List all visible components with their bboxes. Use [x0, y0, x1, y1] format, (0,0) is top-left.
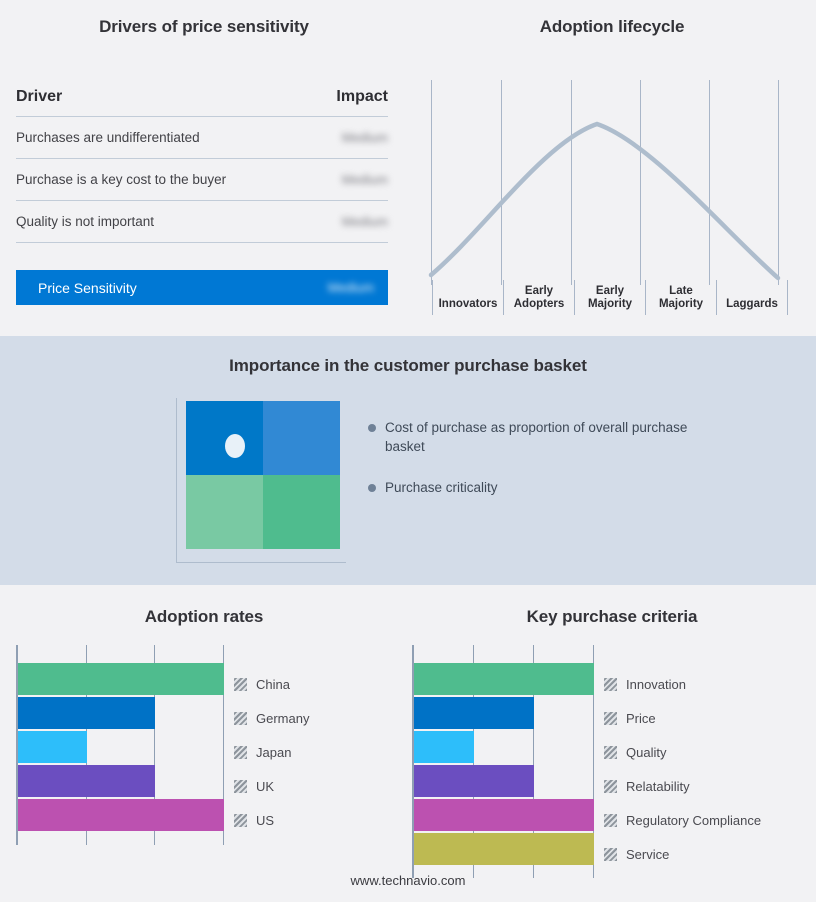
legend-item-china: China [234, 667, 309, 701]
adoption-lifecycle-panel: Adoption lifecycle Innovators [408, 0, 816, 336]
bar-germany [18, 697, 155, 729]
column-header-impact: Impact [336, 88, 388, 106]
impact-value: Medium [342, 214, 388, 229]
legend-swatch-icon [604, 746, 617, 759]
legend-swatch-icon [234, 746, 247, 759]
legend-item-relatability: Relatability [604, 769, 761, 803]
stage-line-2: Majority [588, 298, 632, 311]
legend-label: Innovation [626, 677, 686, 692]
key-purchase-criteria-bars [414, 645, 594, 865]
legend-label: Quality [626, 745, 666, 760]
stage-line-2: Majority [659, 298, 703, 311]
bar-row [18, 765, 224, 797]
legend-swatch-icon [604, 814, 617, 827]
stage-line-2: Innovators [439, 298, 498, 311]
bar-row [18, 731, 224, 763]
quadrant-chart [176, 398, 346, 563]
legend-swatch-icon [604, 780, 617, 793]
legend-item-regulatory-compliance: Regulatory Compliance [604, 803, 761, 837]
basket-legend-label: Cost of purchase as proportion of overal… [385, 418, 698, 456]
list-item: Cost of purchase as proportion of overal… [368, 418, 698, 456]
list-item: Purchase criticality [368, 478, 698, 497]
table-row: Purchases are undifferentiated Medium [16, 117, 388, 159]
legend-item-quality: Quality [604, 735, 761, 769]
price-sensitivity-impact-value: Medium [328, 280, 374, 295]
legend-item-price: Price [604, 701, 761, 735]
table-row: Quality is not important Medium [16, 201, 388, 243]
legend-swatch-icon [604, 678, 617, 691]
basket-panel-title: Importance in the customer purchase bask… [0, 356, 816, 376]
impact-value: Medium [342, 172, 388, 187]
driver-label: Purchase is a key cost to the buyer [16, 172, 226, 187]
legend-swatch-icon [234, 678, 247, 691]
impact-value: Medium [342, 130, 388, 145]
column-header-driver: Driver [16, 88, 62, 106]
bar-japan [18, 731, 87, 763]
bar-service [414, 833, 594, 865]
legend-swatch-icon [604, 848, 617, 861]
lifecycle-stage-innovators: Innovators [432, 280, 504, 315]
legend-item-japan: Japan [234, 735, 309, 769]
table-row: Purchase is a key cost to the buyer Medi… [16, 159, 388, 201]
lifecycle-curve-svg [424, 80, 800, 285]
lifecycle-stage-early-majority: Early Majority [575, 280, 646, 315]
price-sensitivity-label: Price Sensitivity [38, 280, 137, 296]
bar-relatability [414, 765, 534, 797]
lifecycle-stage-labels: Innovators Early Adopters Early Majority… [432, 280, 788, 315]
key-purchase-criteria-title: Key purchase criteria [408, 607, 816, 627]
legend-item-germany: Germany [234, 701, 309, 735]
legend-item-innovation: Innovation [604, 667, 761, 701]
legend-label: UK [256, 779, 274, 794]
adoption-rates-title: Adoption rates [0, 607, 408, 627]
stage-line-1: Early [525, 285, 553, 298]
quadrant-top-right [263, 401, 340, 475]
lifecycle-gridlines [432, 80, 779, 285]
bar-uk [18, 765, 155, 797]
bar-row [18, 697, 224, 729]
bar-price [414, 697, 534, 729]
legend-swatch-icon [234, 780, 247, 793]
drivers-table: Driver Impact Purchases are undifferenti… [16, 88, 388, 243]
lifecycle-panel-title: Adoption lifecycle [408, 17, 816, 37]
legend-label: Germany [256, 711, 309, 726]
adoption-rates-chart: China Germany Japan UK US [16, 645, 309, 845]
bar-row [414, 799, 594, 831]
drivers-table-header: Driver Impact [16, 88, 388, 117]
bar-row [414, 765, 594, 797]
adoption-rates-legend: China Germany Japan UK US [234, 645, 309, 845]
bar-row [18, 663, 224, 695]
adoption-rates-bars [18, 645, 224, 831]
drivers-panel-title: Drivers of price sensitivity [0, 17, 408, 37]
legend-item-uk: UK [234, 769, 309, 803]
bar-regulatory-compliance [414, 799, 594, 831]
bullet-icon [368, 424, 376, 432]
footer-watermark: www.technavio.com [0, 873, 816, 888]
legend-label: Japan [256, 745, 291, 760]
key-purchase-criteria-legend: Innovation Price Quality Relatability Re… [604, 645, 761, 878]
bar-row [414, 833, 594, 865]
lifecycle-stage-early-adopters: Early Adopters [504, 280, 575, 315]
stage-line-1: Late [669, 285, 693, 298]
bar-row [414, 663, 594, 695]
legend-swatch-icon [234, 814, 247, 827]
lifecycle-bell-curve [431, 124, 778, 278]
key-purchase-criteria-chart: Innovation Price Quality Relatability Re… [412, 645, 761, 878]
bar-quality [414, 731, 474, 763]
lifecycle-curve-plot [424, 80, 800, 285]
infographic-page: Drivers of price sensitivity Driver Impa… [0, 0, 816, 902]
bar-row [414, 697, 594, 729]
adoption-rates-panel: Adoption rates [0, 585, 408, 902]
quadrant-bottom-left [186, 475, 263, 549]
driver-label: Quality is not important [16, 214, 154, 229]
legend-item-us: US [234, 803, 309, 837]
bar-row [18, 799, 224, 831]
purchase-basket-panel: Importance in the customer purchase bask… [0, 336, 816, 585]
adoption-rates-plot [16, 645, 224, 845]
bar-innovation [414, 663, 594, 695]
legend-label: US [256, 813, 274, 828]
legend-label: Relatability [626, 779, 690, 794]
drivers-of-price-sensitivity-panel: Drivers of price sensitivity Driver Impa… [0, 0, 408, 336]
bar-us [18, 799, 224, 831]
legend-item-service: Service [604, 837, 761, 871]
basket-legend: Cost of purchase as proportion of overal… [368, 418, 698, 519]
quadrant-top-left [186, 401, 263, 475]
lifecycle-stage-late-majority: Late Majority [646, 280, 717, 315]
lifecycle-stage-laggards: Laggards [717, 280, 788, 315]
stage-line-2: Laggards [726, 298, 778, 311]
price-sensitivity-summary-row: Price Sensitivity Medium [16, 270, 388, 305]
stage-line-1: Early [596, 285, 624, 298]
bullet-icon [368, 484, 376, 492]
quadrant-bottom-right [263, 475, 340, 549]
stage-line-2: Adopters [514, 298, 564, 311]
legend-swatch-icon [604, 712, 617, 725]
quadrant-position-marker [225, 434, 245, 458]
legend-label: Price [626, 711, 656, 726]
key-purchase-criteria-panel: Key purchase criteria [408, 585, 816, 902]
key-purchase-criteria-plot [412, 645, 594, 878]
basket-legend-label: Purchase criticality [385, 478, 498, 497]
quadrant-grid [186, 401, 340, 549]
bar-china [18, 663, 224, 695]
legend-swatch-icon [234, 712, 247, 725]
legend-label: Service [626, 847, 669, 862]
bar-row [414, 731, 594, 763]
legend-label: Regulatory Compliance [626, 813, 761, 828]
driver-label: Purchases are undifferentiated [16, 130, 200, 145]
legend-label: China [256, 677, 290, 692]
